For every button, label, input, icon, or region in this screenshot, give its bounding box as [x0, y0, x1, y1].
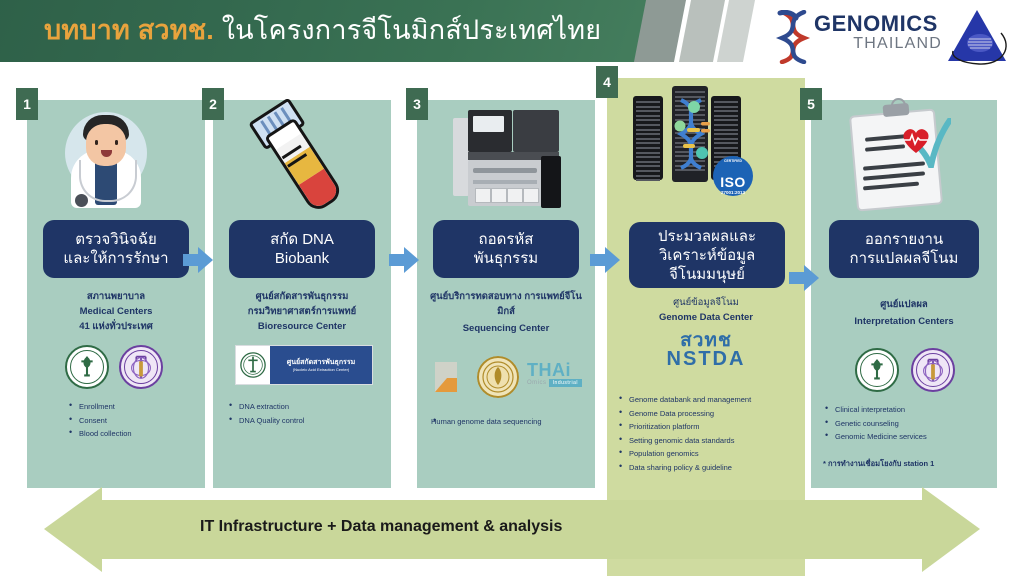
column-3[interactable]: 3 ถอดรหัส พันธุกรรม ศูนย์บริการทดสอบทาง … — [417, 100, 595, 488]
list-item: Data sharing policy & guideline — [617, 461, 751, 475]
arrow-tip-left — [44, 487, 102, 572]
column-3-caption-th: ศูนย์บริการทดสอบทาง การแพทย์จีโน — [417, 290, 595, 303]
blood-test-tube-icon — [239, 100, 367, 216]
logo-thailand-word: THAILAND — [814, 35, 942, 53]
column-2-bullets: DNA extraction DNA Quality control — [227, 400, 304, 427]
column-1-caption-extra: 41 แห่งทั่วประเทศ — [27, 320, 205, 333]
column-2[interactable]: 2 สกัด DNA Biobank ศูนย์สกัดสารพันธุกรรม… — [213, 100, 391, 488]
column-3-number: 3 — [406, 88, 428, 120]
page-title-rest: ในโครงการจีโนมิกส์ประเทศไทย — [214, 15, 601, 45]
column-3-pill-line-2: พันธุกรรม — [474, 249, 538, 268]
column-4-pill-line-1: ประมวลผลและ — [658, 227, 756, 246]
column-3-pill-line-1: ถอดรหัส — [479, 230, 534, 249]
doctor-icon — [45, 102, 170, 214]
list-item: Human genome data sequencing — [431, 415, 542, 429]
list-item: Blood collection — [67, 427, 132, 441]
column-1-pill-line-1: ตรวจวินิจฉัย — [75, 230, 156, 249]
column-4-pill-line-3: จีโนมมนุษย์ — [669, 265, 745, 284]
column-4-caption-th: ศูนย์ข้อมูลจีโนม — [607, 296, 805, 309]
dna-helix-icon — [774, 10, 812, 64]
arrow-tip-right — [922, 487, 980, 572]
list-item: Clinical interpretation — [823, 403, 927, 417]
list-item: Consent — [67, 414, 132, 428]
nstda-triangle-icon — [945, 7, 1009, 67]
dmsc-nucleic-acid-extraction-center-logo: ศูนย์สกัดสารพันธุกรรม (Nucleic Acid Extr… — [235, 345, 373, 385]
column-2-pill[interactable]: สกัด DNA Biobank — [229, 220, 375, 278]
ngo-logo-icon — [431, 358, 467, 398]
flow-arrow-3-to-4 — [590, 247, 620, 273]
flow-arrow-2-to-3 — [389, 247, 419, 273]
list-item: DNA extraction — [227, 400, 304, 414]
bottom-arrow-label: IT Infrastructure + Data management & an… — [200, 518, 562, 536]
column-1-pill-line-2: และให้การรักษา — [63, 249, 168, 268]
column-3-pill[interactable]: ถอดรหัส พันธุกรรม — [433, 220, 579, 278]
moph-seal-icon — [855, 348, 899, 392]
thai-omics-sub: Omics — [527, 380, 547, 386]
dna-sequencer-icon — [431, 100, 581, 216]
iso-badge-main: ISO — [713, 175, 753, 189]
dmsc-chip-en: (Nucleic Acid Extraction Center) — [293, 367, 349, 373]
medical-report-clipboard-icon — [845, 102, 951, 210]
thai-omics-main: THAi — [527, 362, 582, 379]
genomics-thailand-logo: GENOMICS THAILAND — [762, 4, 1012, 70]
royal-seal-icon — [477, 356, 519, 398]
list-item: Genomic Medicine services — [823, 430, 927, 444]
column-5-pill-line-2: การแปลผลจีโนม — [850, 249, 959, 268]
column-5-bullets: Clinical interpretation Genetic counseli… — [823, 403, 927, 444]
medical-council-seal-icon — [119, 345, 163, 389]
column-2-caption-th2: กรมวิทยาศาสตร์การแพทย์ — [213, 305, 391, 318]
column-5-number: 5 — [800, 88, 822, 120]
column-2-number: 2 — [202, 88, 224, 120]
list-item: Genome databank and management — [617, 393, 751, 407]
column-2-pill-line-1: สกัด DNA — [270, 230, 334, 249]
moph-seal-icon — [65, 345, 109, 389]
list-item: Setting genomic data standards — [617, 434, 751, 448]
nstda-logo: สวทช NSTDA — [607, 332, 805, 369]
column-2-caption-th: ศูนย์สกัดสารพันธุกรรม — [213, 290, 391, 303]
nstda-logo-en: NSTDA — [607, 350, 805, 369]
flow-arrow-1-to-2 — [183, 247, 213, 273]
column-3-bullets: Human genome data sequencing — [431, 415, 542, 429]
column-5[interactable]: 5 ออกรายงาน การแปลผลจีโนม ศูนย์แปลผล Int… — [811, 100, 997, 488]
list-item: Enrollment — [67, 400, 132, 414]
column-1-caption-en: Medical Centers — [27, 305, 205, 318]
list-item: Prioritization platform — [617, 420, 751, 434]
dmsc-seal-icon — [236, 346, 270, 384]
column-1-pill[interactable]: ตรวจวินิจฉัย และให้การรักษา — [43, 220, 189, 278]
column-3-caption-en: Sequencing Center — [417, 322, 595, 335]
column-5-pill-line-1: ออกรายงาน — [865, 230, 943, 249]
dmsc-chip-th: ศูนย์สกัดสารพันธุกรรม — [287, 358, 355, 367]
column-4-number: 4 — [596, 66, 618, 98]
column-2-pill-line-2: Biobank — [275, 249, 329, 268]
page-title: บทบาท สวทช. ในโครงการจีโนมิกส์ประเทศไทย — [44, 8, 601, 52]
list-item: Genetic counseling — [823, 417, 927, 431]
column-1[interactable]: 1 ตรวจวินิจฉัย และให้การรักษา สภานพยาบาล… — [27, 100, 205, 488]
medical-council-seal-icon — [911, 348, 955, 392]
flow-arrow-4-to-5 — [789, 265, 819, 291]
column-1-caption-th: สภานพยาบาล — [27, 290, 205, 303]
server-rack-dna-icon: CERTIFIED ISO 27001:2013 — [631, 84, 743, 188]
column-4-pill-line-2: วิเคราะห์ข้อมูล — [659, 246, 755, 265]
iso-certification-badge: CERTIFIED ISO 27001:2013 — [713, 156, 753, 196]
page-title-highlight: บทบาท สวทช. — [44, 15, 214, 45]
column-4-bullets: Genome databank and management Genome Da… — [617, 393, 751, 474]
thai-omics-badge: Industrial — [549, 379, 582, 387]
logo-genomics-word: GENOMICS — [814, 12, 942, 35]
list-item: Population genomics — [617, 447, 751, 461]
column-2-caption-en: Bioresource Center — [213, 320, 391, 333]
column-5-caption-en: Interpretation Centers — [811, 315, 997, 328]
logo-text-block: GENOMICS THAILAND — [814, 12, 942, 53]
column-3-caption-th2: มิกส์ — [417, 305, 595, 318]
column-4-caption-en: Genome Data Center — [607, 311, 805, 324]
column-4-pill[interactable]: ประมวลผลและ วิเคราะห์ข้อมูล จีโนมมนุษย์ — [629, 222, 785, 288]
column-5-note: * การทำงานเชื่อมโยงกับ station 1 — [823, 458, 934, 470]
iso-badge-standard: 27001:2013 — [713, 189, 753, 196]
column-5-caption-th: ศูนย์แปลผล — [811, 298, 997, 311]
column-1-bullets: Enrollment Consent Blood collection — [67, 400, 132, 441]
bottom-double-arrow: IT Infrastructure + Data management & an… — [0, 487, 1024, 572]
list-item: DNA Quality control — [227, 414, 304, 428]
thai-omics-logo: THAi Omics Industrial — [527, 362, 582, 387]
column-1-number: 1 — [16, 88, 38, 120]
list-item: Genome Data processing — [617, 407, 751, 421]
iso-badge-top: CERTIFIED — [713, 159, 753, 164]
column-5-pill[interactable]: ออกรายงาน การแปลผลจีโนม — [829, 220, 979, 278]
